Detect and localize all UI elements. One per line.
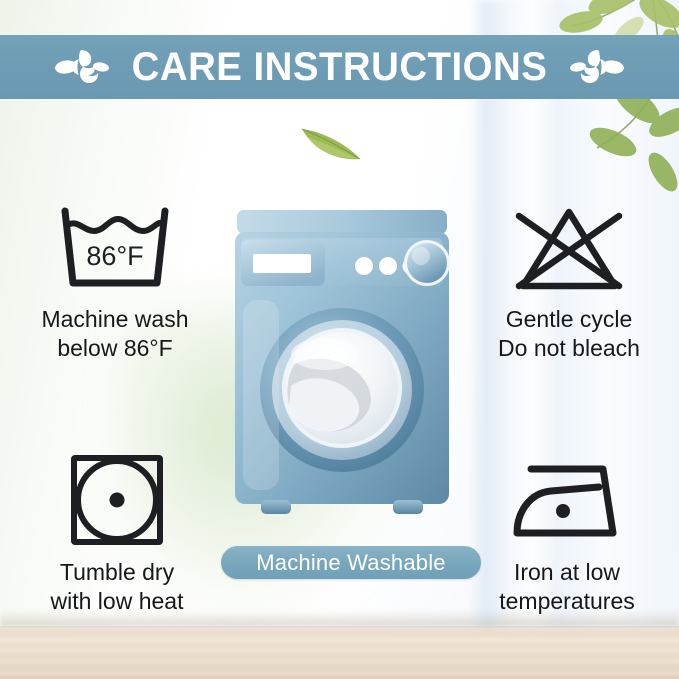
care-item-gentle-cycle-no-bleach: Gentle cycle Do not bleach — [466, 195, 672, 363]
iron-low-icon — [464, 448, 670, 552]
no-bleach-triangle-icon — [466, 195, 672, 299]
wash-temperature-label: 86°F — [86, 241, 143, 271]
care-item-caption: Machine wash below 86°F — [12, 305, 218, 363]
care-item-machine-wash: 86°F Machine wash below 86°F — [12, 195, 218, 363]
care-item-tumble-dry-low: Tumble dry with low heat — [14, 448, 220, 616]
page-title: CARE INSTRUCTIONS — [132, 45, 548, 90]
machine-washable-badge: Machine Washable — [221, 546, 481, 579]
wood-surface — [0, 626, 679, 679]
badge-label: Machine Washable — [256, 550, 445, 576]
care-item-caption: Tumble dry with low heat — [14, 558, 220, 616]
care-item-caption: Iron at low temperatures — [464, 558, 670, 616]
header-banner: CARE INSTRUCTIONS — [0, 35, 679, 99]
washing-machine-illustration — [233, 208, 451, 536]
fleur-de-lis-icon-right — [570, 45, 624, 89]
tumble-dry-low-icon — [14, 448, 220, 552]
care-item-iron-low: Iron at low temperatures — [464, 448, 670, 616]
care-item-caption: Gentle cycle Do not bleach — [466, 305, 672, 363]
fleur-de-lis-icon-left — [55, 45, 109, 89]
wash-tub-icon: 86°F — [12, 195, 218, 299]
care-instructions-infographic: CARE INSTRUCTIONS — [0, 0, 679, 679]
